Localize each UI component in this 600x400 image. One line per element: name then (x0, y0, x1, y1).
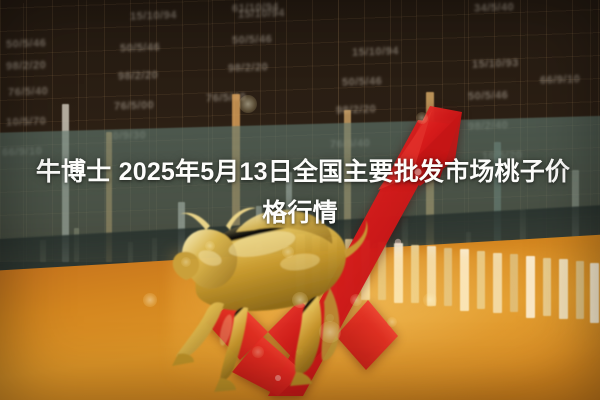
banner-image: 50/5/4698/2/2076/5/4010/5/7066/9/1015/10… (0, 0, 600, 400)
banner-title: 牛博士 2025年5月13日全国主要批发市场桃子价 格行情 (0, 152, 600, 234)
title-line-1: 牛博士 2025年5月13日全国主要批发市场桃子价 (0, 152, 600, 193)
title-line-2: 格行情 (0, 193, 600, 234)
